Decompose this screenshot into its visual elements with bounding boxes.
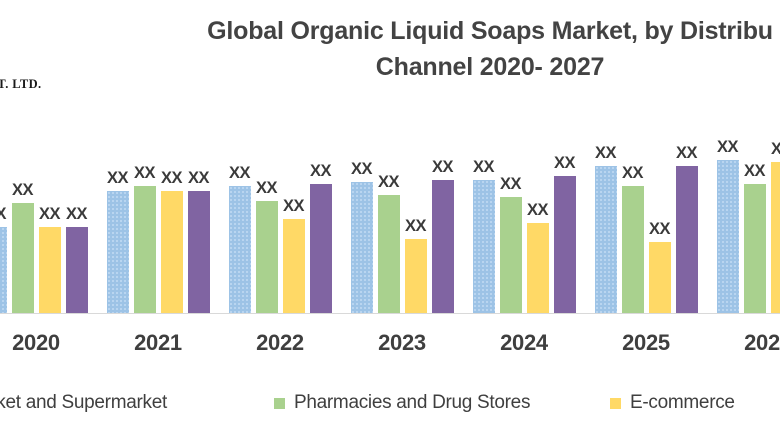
bar-2024-series-1[interactable]: XX xyxy=(500,197,522,313)
bar-value-label: XX xyxy=(229,164,250,183)
bar-2023-series-2[interactable]: XX xyxy=(405,239,427,313)
bar-fill xyxy=(229,186,251,313)
legend-item-0[interactable]: arket and Supermarket xyxy=(0,392,167,414)
bar-group-2021: XXXXXXXX xyxy=(107,117,210,313)
bar-fill xyxy=(595,166,617,313)
bar-value-label: XX xyxy=(66,205,87,224)
legend-swatch-icon xyxy=(610,398,621,409)
bar-value-label: XX xyxy=(39,205,60,224)
bar-group-2020: XXXXXXXX xyxy=(0,117,88,313)
bar-fill xyxy=(66,227,88,313)
chart-title-line-2: Channel 2020- 2027 xyxy=(40,50,780,86)
bar-value-label: XX xyxy=(12,181,33,200)
x-axis-line xyxy=(0,313,780,314)
bar-value-label: XX xyxy=(500,175,521,194)
bar-value-label: XX xyxy=(256,179,277,198)
bar-2022-series-0[interactable]: XX xyxy=(229,186,251,313)
bar-group-2026: XXXXXXXX xyxy=(717,117,780,313)
bar-fill xyxy=(134,186,156,313)
bar-value-label: XX xyxy=(432,158,453,177)
bar-fill xyxy=(310,184,332,313)
chart-canvas: ZE ARCH PVT. LTD. Global Organic Liquid … xyxy=(0,0,780,440)
chart-legend: arket and SupermarketPharmacies and Drug… xyxy=(0,392,780,426)
bar-value-label: XX xyxy=(527,201,548,220)
bar-fill xyxy=(500,197,522,313)
chart-title: Global Organic Liquid Soaps Market, by D… xyxy=(40,14,780,85)
bar-value-label: XX xyxy=(717,138,738,157)
bar-2020-series-3[interactable]: XX xyxy=(66,227,88,313)
bar-group-2025: XXXXXXXX xyxy=(595,117,698,313)
bar-fill xyxy=(473,180,495,313)
bar-value-label: XX xyxy=(771,140,780,159)
bar-group-2022: XXXXXXXX xyxy=(229,117,332,313)
bar-2025-series-3[interactable]: XX xyxy=(676,166,698,313)
bar-2021-series-1[interactable]: XX xyxy=(134,186,156,313)
x-tick-2023: 2023 xyxy=(378,330,426,356)
bar-fill xyxy=(717,160,739,313)
x-tick-2021: 2021 xyxy=(134,330,182,356)
bar-2022-series-1[interactable]: XX xyxy=(256,201,278,313)
bar-2026-series-2[interactable]: XX xyxy=(771,162,780,313)
bar-value-label: XX xyxy=(134,164,155,183)
x-tick-2026: 2026 xyxy=(744,330,780,356)
bar-2021-series-0[interactable]: XX xyxy=(107,191,129,313)
x-tick-2024: 2024 xyxy=(500,330,548,356)
bar-value-label: XX xyxy=(378,173,399,192)
plot-area: XXXXXXXXXXXXXXXXXXXXXXXXXXXXXXXXXXXXXXXX… xyxy=(0,118,780,314)
bar-value-label: XX xyxy=(649,220,670,239)
bar-fill xyxy=(649,242,671,313)
bar-value-label: XX xyxy=(188,169,209,188)
legend-label: arket and Supermarket xyxy=(0,392,167,414)
bar-fill xyxy=(256,201,278,313)
bar-fill xyxy=(527,223,549,313)
bar-2024-series-2[interactable]: XX xyxy=(527,223,549,313)
bar-fill xyxy=(283,219,305,313)
bar-fill xyxy=(39,227,61,313)
bar-value-label: XX xyxy=(595,144,616,163)
legend-label: E-commerce xyxy=(630,392,735,414)
bar-fill xyxy=(161,191,183,313)
legend-swatch-icon xyxy=(274,398,285,409)
bar-2021-series-2[interactable]: XX xyxy=(161,191,183,313)
chart-title-line-1: Global Organic Liquid Soaps Market, by D… xyxy=(207,17,773,45)
bar-fill xyxy=(554,176,576,313)
bar-2020-series-0[interactable]: XX xyxy=(0,227,7,313)
bar-value-label: XX xyxy=(405,217,426,236)
bar-value-label: XX xyxy=(676,144,697,163)
bar-value-label: XX xyxy=(473,158,494,177)
bar-2020-series-1[interactable]: XX xyxy=(12,203,34,313)
bar-2023-series-1[interactable]: XX xyxy=(378,195,400,313)
legend-item-1[interactable]: Pharmacies and Drug Stores xyxy=(274,392,530,414)
bar-fill xyxy=(771,162,780,313)
bar-fill xyxy=(188,191,210,313)
bar-value-label: XX xyxy=(161,169,182,188)
x-axis-tick-labels: 2020202120222023202420252026 xyxy=(0,330,780,360)
bar-2025-series-1[interactable]: XX xyxy=(622,186,644,313)
bar-fill xyxy=(744,184,766,313)
bar-fill xyxy=(405,239,427,313)
bar-2025-series-2[interactable]: XX xyxy=(649,242,671,313)
legend-item-2[interactable]: E-commerce xyxy=(610,392,735,414)
bar-2024-series-3[interactable]: XX xyxy=(554,176,576,313)
bar-fill xyxy=(351,182,373,313)
legend-label: Pharmacies and Drug Stores xyxy=(294,392,530,414)
x-tick-2020: 2020 xyxy=(12,330,60,356)
bar-2022-series-2[interactable]: XX xyxy=(283,219,305,313)
bar-2026-series-0[interactable]: XX xyxy=(717,160,739,313)
bar-group-2023: XXXXXXXX xyxy=(351,117,454,313)
bar-fill xyxy=(107,191,129,313)
bar-fill xyxy=(378,195,400,313)
bar-2021-series-3[interactable]: XX xyxy=(188,191,210,313)
bar-2026-series-1[interactable]: XX xyxy=(744,184,766,313)
bar-2023-series-0[interactable]: XX xyxy=(351,182,373,313)
bar-fill xyxy=(622,186,644,313)
bar-fill xyxy=(0,227,7,313)
bar-2023-series-3[interactable]: XX xyxy=(432,180,454,313)
bar-fill xyxy=(676,166,698,313)
bar-value-label: XX xyxy=(622,164,643,183)
bar-value-label: XX xyxy=(554,154,575,173)
bar-group-2024: XXXXXXXX xyxy=(473,117,576,313)
bar-2024-series-0[interactable]: XX xyxy=(473,180,495,313)
bar-value-label: XX xyxy=(107,169,128,188)
bar-2020-series-2[interactable]: XX xyxy=(39,227,61,313)
bar-fill xyxy=(12,203,34,313)
bar-fill xyxy=(432,180,454,313)
bar-value-label: XX xyxy=(351,160,372,179)
bar-2025-series-0[interactable]: XX xyxy=(595,166,617,313)
bar-value-label: XX xyxy=(283,197,304,216)
bar-value-label: XX xyxy=(310,162,331,181)
bar-2022-series-3[interactable]: XX xyxy=(310,184,332,313)
bar-value-label: XX xyxy=(0,205,6,224)
x-tick-2025: 2025 xyxy=(622,330,670,356)
bar-value-label: XX xyxy=(744,162,765,181)
x-tick-2022: 2022 xyxy=(256,330,304,356)
